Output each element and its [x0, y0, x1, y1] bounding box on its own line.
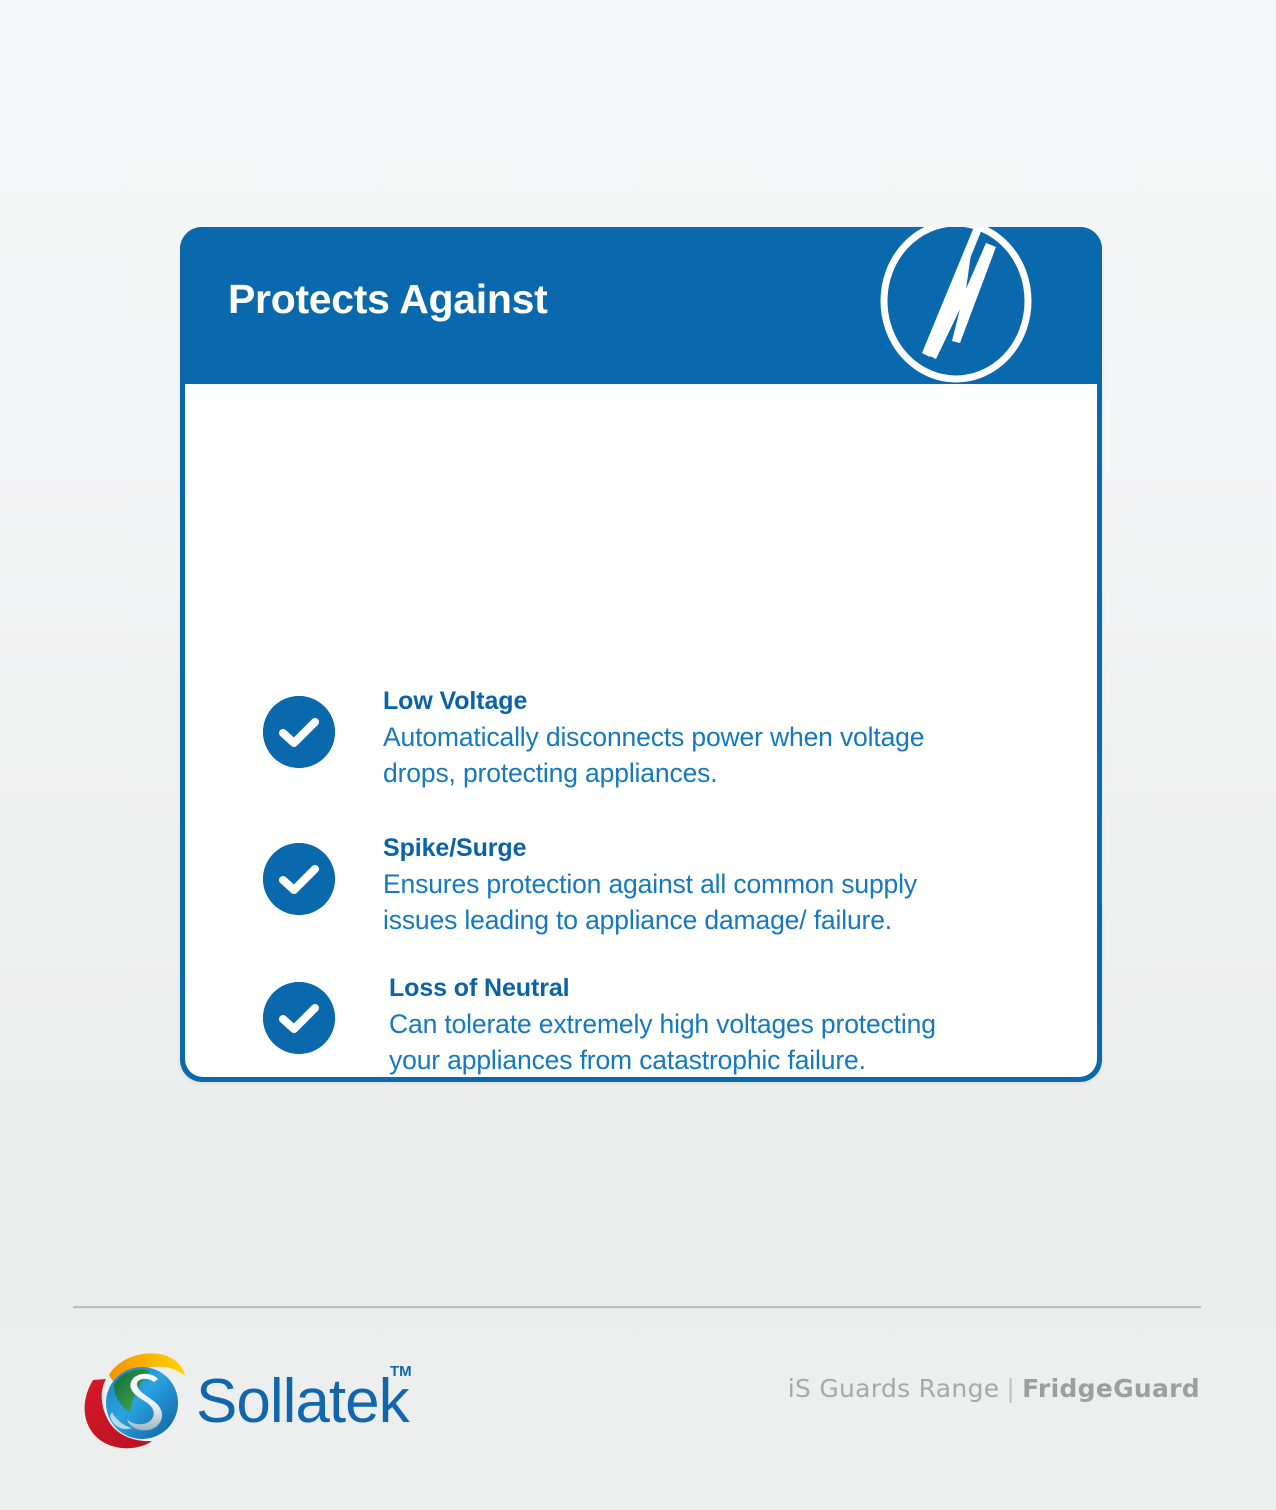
card-header: Protects Against	[180, 227, 1102, 384]
page-title: Protects Against	[228, 279, 547, 320]
check-circle-icon	[263, 696, 335, 768]
feature-text-block: Spike/Surge Ensures protection against a…	[383, 834, 917, 939]
protects-against-card: Protects Against Low Voltage Auto	[180, 227, 1102, 1082]
feature-description: Can tolerate extremely high voltages pro…	[389, 1006, 936, 1079]
feature-description: Automatically disconnects power when vol…	[383, 719, 924, 792]
range-label: iS Guards Range	[788, 1374, 1000, 1403]
card-body: Low Voltage Automatically disconnects po…	[185, 384, 1097, 1077]
separator: |	[1006, 1374, 1015, 1403]
list-item: Low Voltage Automatically disconnects po…	[263, 687, 924, 792]
lightning-bolt-circle-icon	[872, 227, 1040, 384]
footer-divider	[73, 1306, 1201, 1309]
footer: Sollatek TM iS Guards Range|FridgeGuard	[0, 1330, 1276, 1460]
feature-title: Low Voltage	[383, 687, 924, 716]
product-name: FridgeGuard	[1022, 1374, 1200, 1403]
check-circle-icon	[263, 982, 335, 1054]
list-item: Spike/Surge Ensures protection against a…	[263, 834, 917, 939]
feature-title: Loss of Neutral	[389, 974, 936, 1003]
svg-text:TM: TM	[390, 1363, 412, 1380]
feature-title: Spike/Surge	[383, 834, 917, 863]
footer-product-label: iS Guards Range|FridgeGuard	[788, 1374, 1200, 1403]
feature-description: Ensures protection against all common su…	[383, 866, 917, 939]
sollatek-globe-logo: Sollatek TM	[72, 1340, 412, 1450]
feature-text-block: Low Voltage Automatically disconnects po…	[383, 687, 924, 792]
check-circle-icon	[263, 843, 335, 915]
feature-text-block: Loss of Neutral Can tolerate extremely h…	[389, 974, 936, 1079]
svg-text:Sollatek: Sollatek	[196, 1367, 411, 1436]
list-item: Loss of Neutral Can tolerate extremely h…	[263, 974, 936, 1079]
